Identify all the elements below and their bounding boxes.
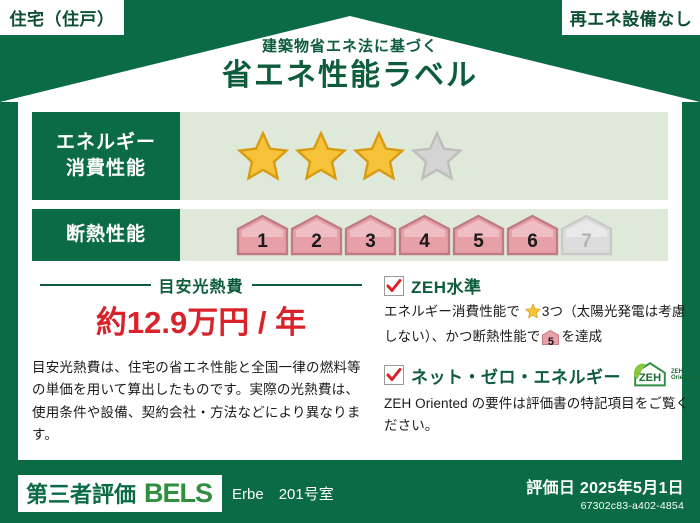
title-subtitle: 建築物省エネ法に基づく [0,38,700,56]
zeh-oriented-logo: ZEH ZEH Oriented [630,360,696,390]
lower-section: 目安光熱費 約12.9万円 / 年 目安光熱費は、住宅の省エネ性能と全国一律の燃… [30,273,670,446]
insulation-level-6: 6 [506,214,559,256]
insulation-level-1: 1 [236,214,289,256]
zeh-logo-sub-2: Oriented [671,375,696,381]
inline-house-badge-number: 5 [542,334,559,352]
zeh-standard-body-part2: 3つ（太陽光発電 [542,304,645,319]
insulation-level-2: 2 [290,214,343,256]
star-rating [180,112,668,200]
energy-label-line1: エネルギー [56,130,156,156]
zeh-standard-body-part1: エネルギー消費性能で [384,304,520,319]
zeh-column: ZEH水準 エネルギー消費性能で 3つ（太陽光発電は考慮しない）、かつ断熱性能で… [370,273,696,446]
insulation-level-number: 7 [560,231,613,253]
insulation-level-4: 4 [398,214,451,256]
net-zero-energy-body: ZEH Oriented の要件は評価書の特記項目をご覧ください。 [384,393,696,436]
insulation-level-number: 6 [506,231,559,253]
insulation-level-number: 3 [344,231,397,253]
zeh-standard-body: エネルギー消費性能で 3つ（太陽光発電は考慮しない）、かつ断熱性能で 5 を達成 [384,301,696,351]
main-panel: エネルギー 消費性能 断熱性能 1234567 目安光熱費 約12.9万 [18,98,682,460]
insulation-performance-label: 断熱性能 [32,209,180,261]
page-title: 省エネ性能ラベル [0,57,700,95]
heading-rule-right [252,284,363,286]
star-filled-icon [352,130,406,182]
zeh-standard-header: ZEH水準 [384,273,696,298]
bels-wordmark: BELS [144,478,212,509]
utility-cost-heading: 目安光熱費 [32,273,370,297]
zeh-standard-body-part4: を達成 [561,329,602,344]
third-party-eval-text: 第三者評価 [26,477,136,509]
bels-energy-label: 住宅（住戸） 再エネ設備なし 建築物省エネ法に基づく 省エネ性能ラベル エネルギ… [0,0,700,523]
insulation-level-3: 3 [344,214,397,256]
insulation-level-number: 4 [398,231,451,253]
utility-cost-heading-text: 目安光熱費 [151,273,252,297]
utility-cost-value: 約12.9万円 / 年 [32,304,370,341]
evaluation-date: 評価日 2025年5月1日 [526,474,684,498]
inline-star-icon [521,307,541,322]
checkbox-checked-icon-2[interactable] [384,365,404,385]
building-type-badge: 住宅（住戸） [0,0,124,35]
energy-performance-label: エネルギー 消費性能 [32,112,180,200]
insulation-performance-row: 断熱性能 1234567 [32,209,668,261]
insulation-level-5: 5 [452,214,505,256]
unit-name-text: Erbe 201号室 [232,483,334,504]
zeh-standard-title: ZEH水準 [411,273,482,298]
renewable-equipment-badge: 再エネ設備なし [562,0,700,35]
insulation-level-number: 1 [236,231,289,253]
utility-cost-note: 目安光熱費は、住宅の省エネ性能と全国一律の燃料等の単価を用いて算出したものです。… [32,357,370,446]
net-zero-energy-title: ネット・ゼロ・エネルギー [411,363,621,388]
insulation-level-number: 5 [452,231,505,253]
svg-text:ZEH: ZEH [639,372,661,384]
star-filled-icon [236,130,290,182]
net-zero-energy-header: ネット・ゼロ・エネルギー ZEH ZEH Oriented [384,360,696,390]
energy-label-line2: 消費性能 [66,156,146,182]
checkbox-checked-icon[interactable] [384,276,404,296]
insulation-level-number: 2 [290,231,343,253]
star-empty-icon [410,130,464,182]
bels-logo-box: 第三者評価 BELS [18,475,222,512]
evaluation-info: 評価日 2025年5月1日 67302c83-a402-4854 [526,474,684,512]
insulation-label-text: 断熱性能 [66,222,146,248]
insulation-level-7: 7 [560,214,613,256]
net-zero-energy-item: ネット・ゼロ・エネルギー ZEH ZEH Oriented [384,360,696,436]
utility-cost-column: 目安光熱費 約12.9万円 / 年 目安光熱費は、住宅の省エネ性能と全国一律の燃… [32,273,370,446]
inline-house-badge-icon: 5 [542,330,559,352]
footer-bar: 第三者評価 BELS Erbe 201号室 評価日 2025年5月1日 6730… [0,463,700,523]
star-filled-icon [294,130,348,182]
evaluation-id: 67302c83-a402-4854 [526,500,684,512]
zeh-standard-item: ZEH水準 エネルギー消費性能で 3つ（太陽光発電は考慮しない）、かつ断熱性能で… [384,273,696,351]
insulation-level-scale: 1234567 [236,214,613,256]
label-title-block: 建築物省エネ法に基づく 省エネ性能ラベル [0,38,700,95]
heading-rule-left [40,284,151,286]
energy-performance-row: エネルギー 消費性能 [32,112,668,200]
